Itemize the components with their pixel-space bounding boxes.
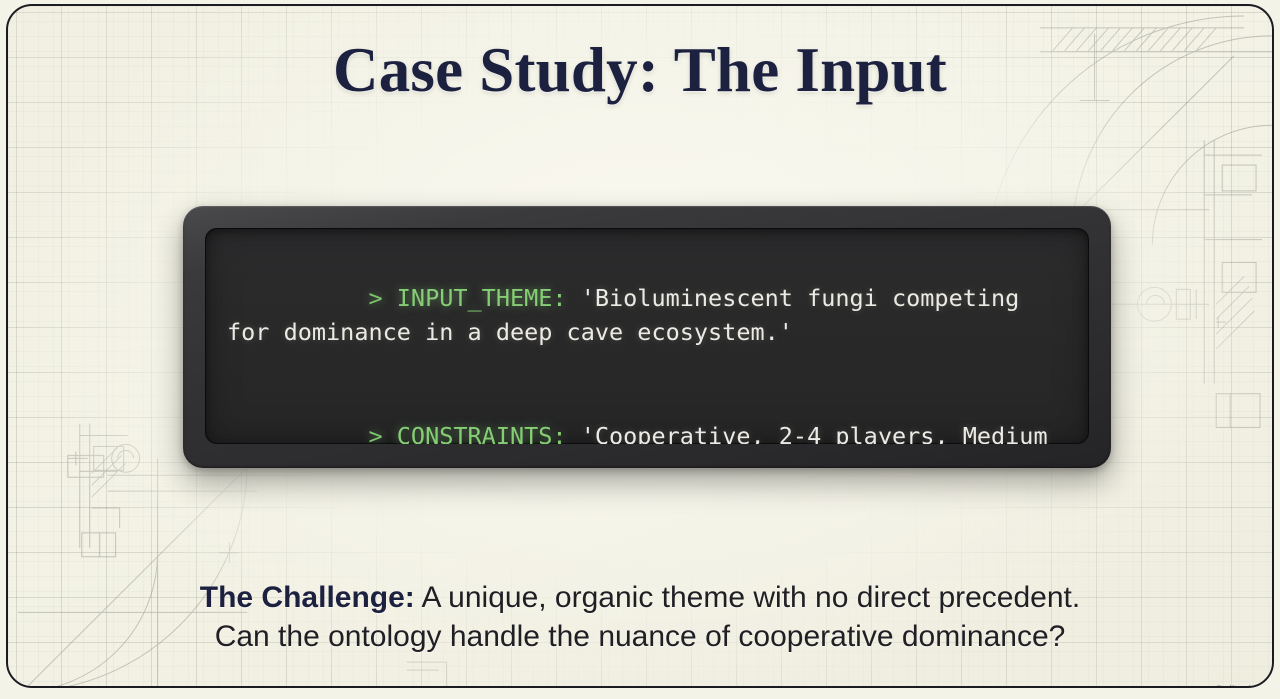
terminal-line-label: INPUT_THEME: xyxy=(397,284,567,312)
caption-line-1-text: A unique, organic theme with no direct p… xyxy=(415,581,1080,614)
caption-line-2: Can the ontology handle the nuance of co… xyxy=(8,617,1272,656)
terminal-prompt-symbol: > xyxy=(368,422,396,445)
terminal-line-label: CONSTRAINTS: xyxy=(397,422,567,445)
terminal-line-value: 'Cooperative, 2-4 players, Medium Comple… xyxy=(227,422,1062,445)
terminal-line: > CONSTRAINTS: 'Cooperative, 2-4 players… xyxy=(227,384,1067,444)
caption-lead-label: The Challenge: xyxy=(200,581,415,614)
page-title: Case Study: The Input xyxy=(8,34,1272,107)
challenge-caption: The Challenge: A unique, organic theme w… xyxy=(8,578,1272,656)
terminal-line: > INPUT_THEME: 'Bioluminescent fungi com… xyxy=(227,246,1067,384)
terminal-window: > INPUT_THEME: 'Bioluminescent fungi com… xyxy=(183,206,1111,468)
terminal-line-value: 'Bioluminescent fungi competing for domi… xyxy=(227,284,1033,347)
slide-card: Case Study: The Input > INPUT_THEME: 'Bi… xyxy=(6,4,1274,688)
footer-sliver-text: Built with xyxy=(1216,684,1260,688)
terminal-screen[interactable]: > INPUT_THEME: 'Bioluminescent fungi com… xyxy=(205,228,1089,444)
terminal-prompt-symbol: > xyxy=(368,284,396,312)
caption-line-1: The Challenge: A unique, organic theme w… xyxy=(8,578,1272,617)
slide-root: Case Study: The Input > INPUT_THEME: 'Bi… xyxy=(0,0,1280,699)
